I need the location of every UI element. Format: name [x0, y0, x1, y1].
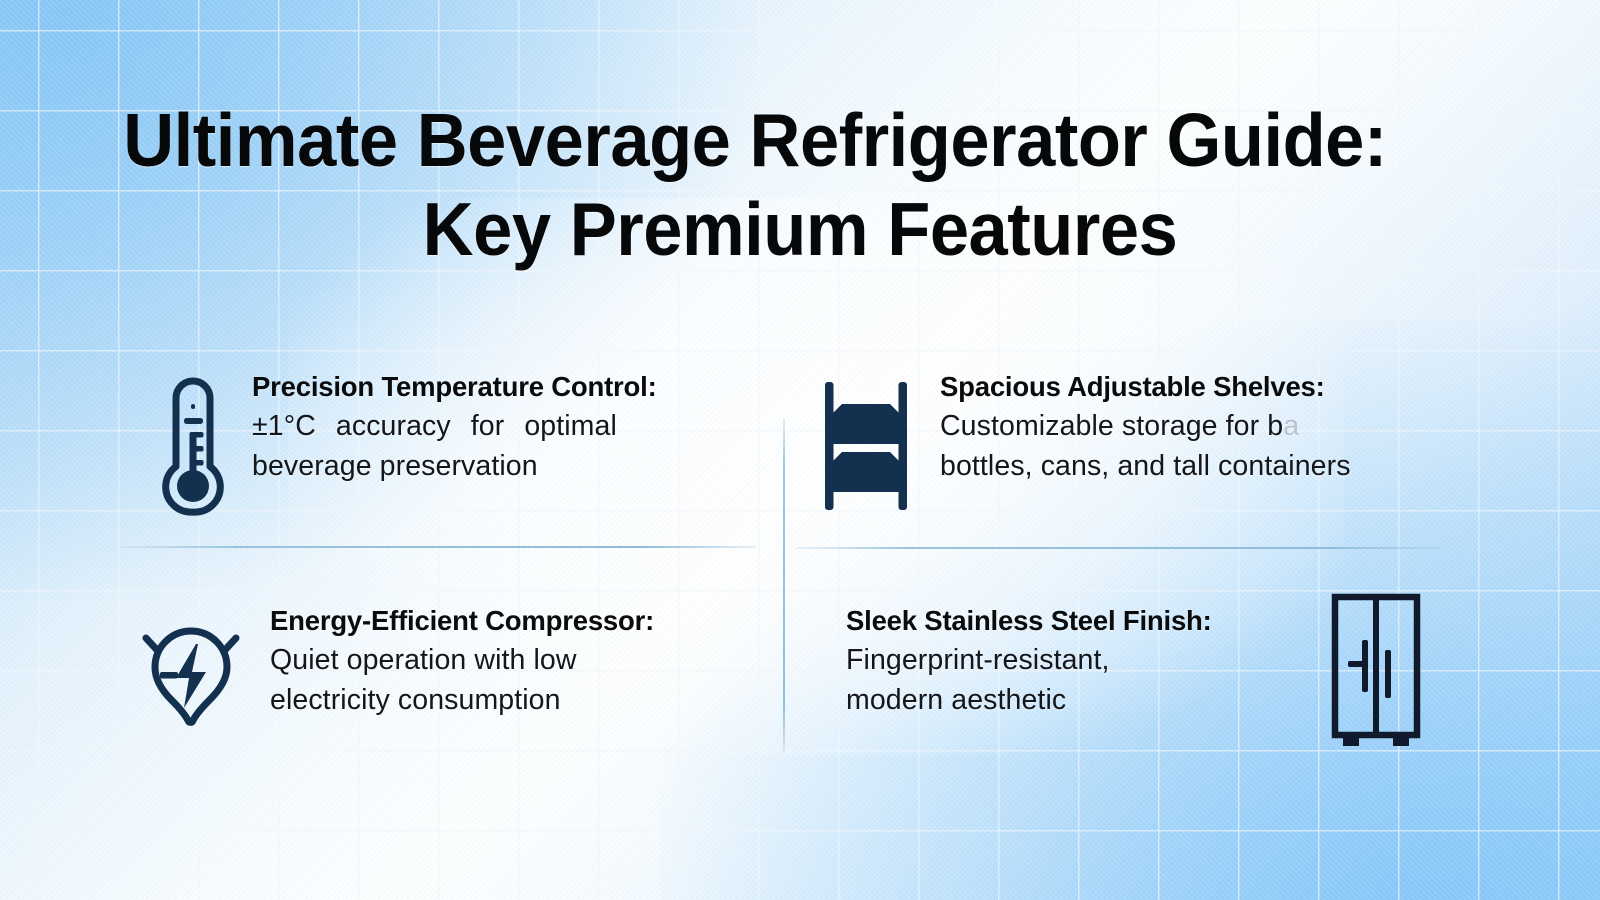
feature-description-line-2: modern aesthetic	[846, 680, 1282, 720]
energy-bolt-icon	[138, 622, 244, 739]
feature-description-line-2: electricity consumption	[270, 680, 758, 720]
feature-title: Spacious Adjustable Shelves:	[940, 368, 1440, 406]
thermometer-icon	[162, 374, 224, 521]
feature-title: Energy-Efficient Compressor:	[270, 602, 758, 640]
feature-description-line-1: ±1°C accuracy for optimal	[252, 406, 762, 446]
divider-horizontal-right	[795, 547, 1440, 549]
page-title-line-2: Key Premium Features	[114, 185, 1486, 274]
feature-description-line-2: beverage preservation	[252, 446, 762, 486]
feature-text-block: Sleek Stainless Steel Finish: Fingerprin…	[846, 602, 1282, 720]
feature-item-energy: Energy-Efficient Compressor: Quiet opera…	[138, 602, 758, 739]
feature-grid: Precision Temperature Control: ±1°C accu…	[0, 352, 1600, 792]
infographic-canvas: Ultimate Beverage Refrigerator Guide: Ke…	[0, 0, 1600, 900]
shelves-icon	[820, 378, 912, 519]
feature-item-finish: Sleek Stainless Steel Finish: Fingerprin…	[846, 602, 1422, 757]
feature-description-line-1-text: Customizable storage for b	[940, 410, 1283, 442]
feature-item-shelves: Spacious Adjustable Shelves: Customizabl…	[820, 368, 1440, 519]
feature-item-temperature: Precision Temperature Control: ±1°C accu…	[162, 368, 762, 521]
feature-text-block: Energy-Efficient Compressor: Quiet opera…	[270, 602, 758, 720]
divider-vertical-center	[783, 418, 785, 752]
feature-description-line-1-truncated-tail: a	[1283, 410, 1299, 442]
feature-description-line-2: bottles, cans, and tall containers	[940, 446, 1440, 486]
feature-text-block: Precision Temperature Control: ±1°C accu…	[252, 368, 762, 486]
feature-description-line-1: Fingerprint-resistant,	[846, 640, 1282, 680]
feature-description-line-1: Customizable storage for ba	[940, 406, 1440, 446]
feature-text-block: Spacious Adjustable Shelves: Customizabl…	[940, 368, 1440, 486]
feature-title: Sleek Stainless Steel Finish:	[846, 602, 1282, 640]
feature-title: Precision Temperature Control:	[252, 368, 762, 406]
page-title: Ultimate Beverage Refrigerator Guide: Ke…	[0, 96, 1600, 274]
divider-horizontal-left	[120, 546, 756, 548]
refrigerator-icon	[1330, 592, 1422, 757]
page-title-line-1: Ultimate Beverage Refrigerator Guide:	[114, 96, 1486, 185]
feature-description-line-1: Quiet operation with low	[270, 640, 758, 680]
